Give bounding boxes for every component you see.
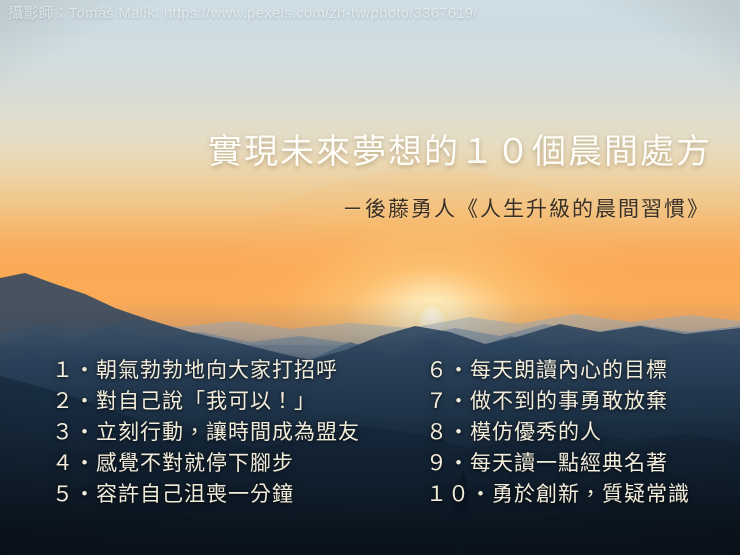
list-item: ８・模仿優秀的人: [426, 417, 690, 448]
list-item: ６・每天朗讀內心的目標: [426, 355, 690, 386]
list-item: ３・立刻行動，讓時間成為盟友: [52, 417, 360, 448]
slide-canvas: 攝影師：Tomáš Malík: https://www.pexels.com/…: [0, 0, 740, 555]
list-item: ２・對自己說「我可以！」: [52, 386, 360, 417]
page-title: 實現未來夢想的１０個晨間處方: [0, 133, 712, 173]
list-item: ９・每天讀一點經典名著: [426, 448, 690, 479]
page-subtitle-attribution: －後藤勇人《人生升級的晨間習慣》: [0, 196, 710, 223]
photo-credit: 攝影師：Tomáš Malík: https://www.pexels.com/…: [8, 2, 478, 23]
list-item: １０・勇於創新，質疑常識: [426, 479, 690, 510]
list-item: １・朝氣勃勃地向大家打招呼: [52, 355, 360, 386]
list-item: ５・容許自己沮喪一分鐘: [52, 479, 360, 510]
prescription-column-right: ６・每天朗讀內心的目標 ７・做不到的事勇敢放棄 ８・模仿優秀的人 ９・每天讀一點…: [426, 355, 690, 510]
list-item: ４・感覺不對就停下腳步: [52, 448, 360, 479]
prescription-column-left: １・朝氣勃勃地向大家打招呼 ２・對自己說「我可以！」 ３・立刻行動，讓時間成為盟…: [52, 355, 360, 510]
prescription-list: １・朝氣勃勃地向大家打招呼 ２・對自己說「我可以！」 ３・立刻行動，讓時間成為盟…: [0, 355, 740, 555]
list-item: ７・做不到的事勇敢放棄: [426, 386, 690, 417]
